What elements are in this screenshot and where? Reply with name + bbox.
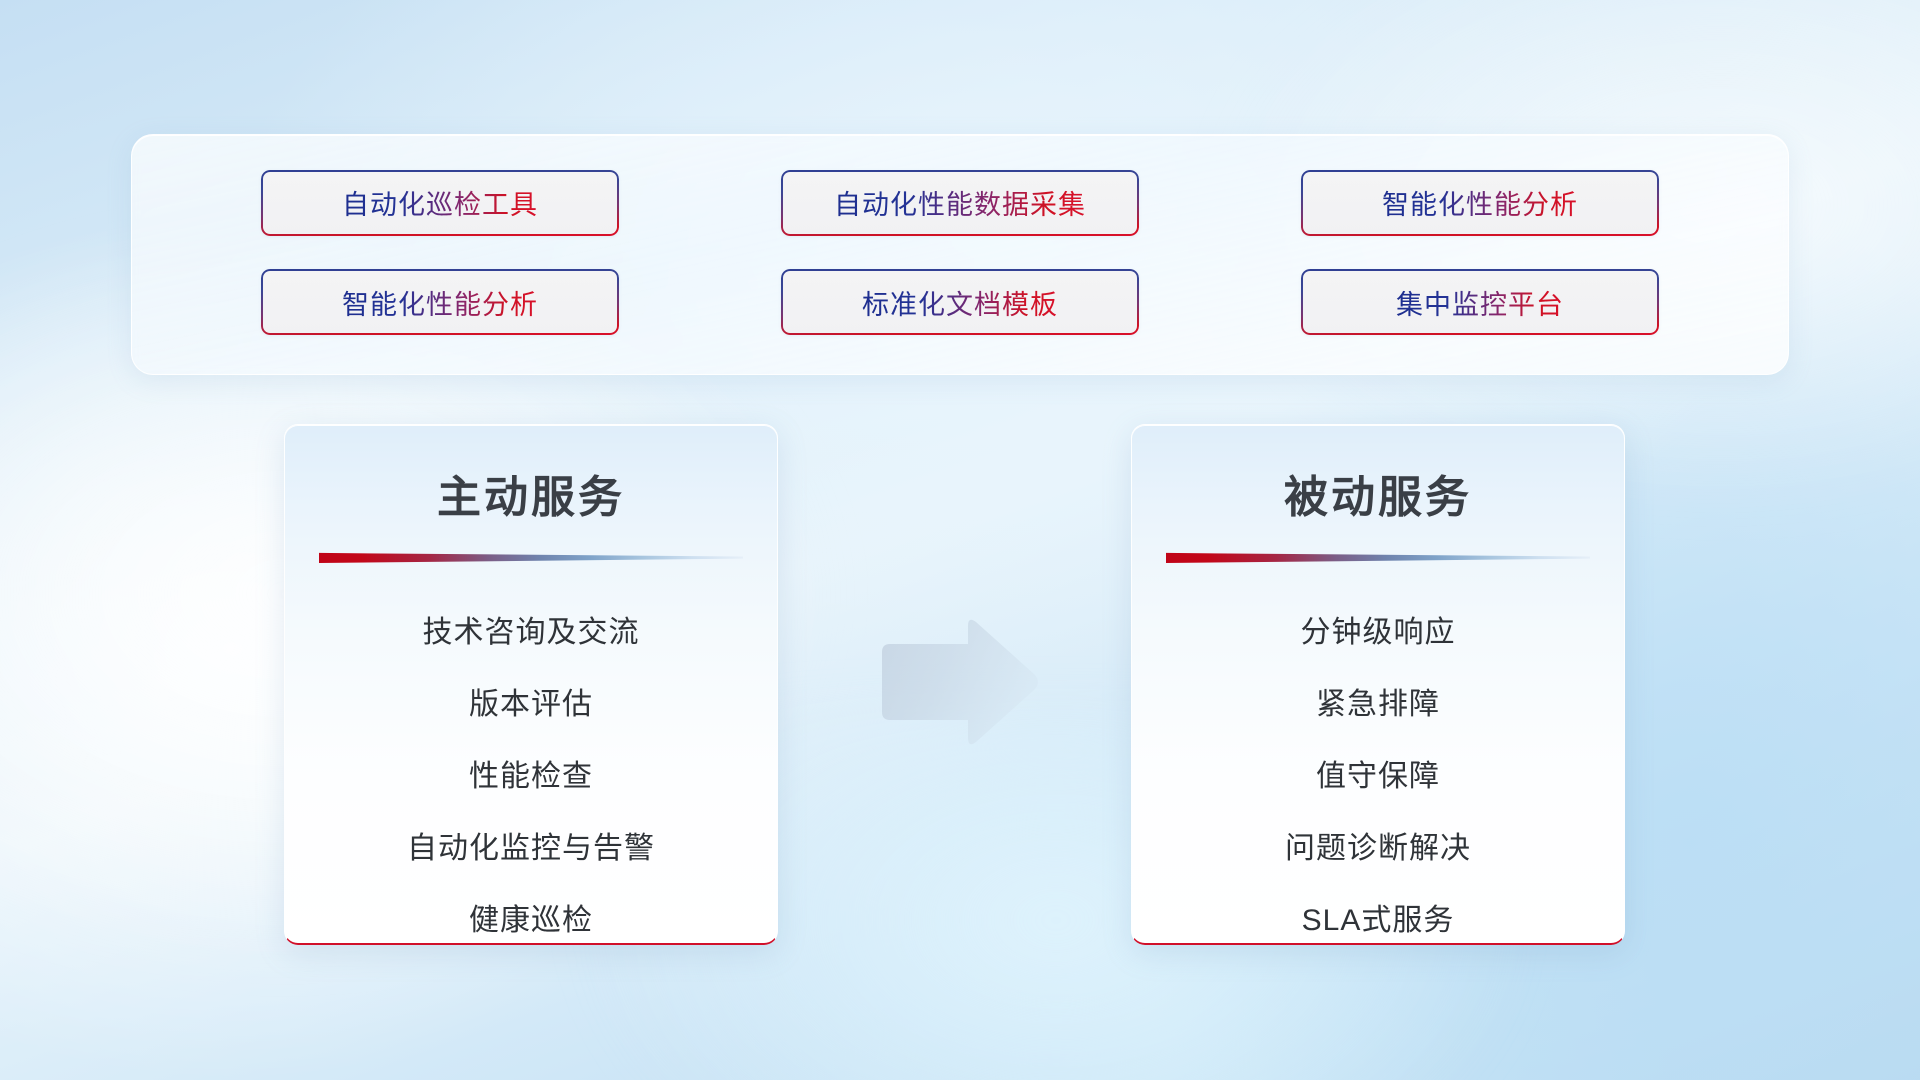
- card-title: 主动服务: [285, 461, 777, 525]
- capability-tag-intelligent-performance-analysis-2[interactable]: 智能化性能分析: [261, 269, 619, 335]
- list-item[interactable]: 紧急排障: [1132, 669, 1624, 741]
- service-card-proactive[interactable]: 主动服务 技术咨询及交流 版本评估 性能检查 自动化监控与告警 健康巡检: [284, 424, 778, 945]
- arrow-right-icon: [876, 614, 1042, 754]
- list-item[interactable]: 性能检查: [285, 741, 777, 813]
- card-title-divider: [1166, 551, 1590, 563]
- capability-tag-label: 集中监控平台: [1396, 283, 1564, 322]
- list-item[interactable]: 分钟级响应: [1132, 597, 1624, 669]
- capabilities-panel: 自动化巡检工具 自动化性能数据采集 智能化性能分析 智能化性能分析 标准化文档模…: [131, 134, 1789, 375]
- list-item[interactable]: 版本评估: [285, 669, 777, 741]
- capability-tag-standardized-document-template[interactable]: 标准化文档模板: [781, 269, 1139, 335]
- card-title: 被动服务: [1132, 461, 1624, 525]
- divider-gradient-wedge: [319, 551, 743, 563]
- list-item[interactable]: 健康巡检: [285, 885, 777, 945]
- capability-tag-label: 自动化巡检工具: [342, 183, 538, 222]
- capability-tag-automated-performance-data-collection[interactable]: 自动化性能数据采集: [781, 170, 1139, 236]
- capability-tag-intelligent-performance-analysis-1[interactable]: 智能化性能分析: [1301, 170, 1659, 236]
- capability-tag-label: 标准化文档模板: [862, 283, 1058, 322]
- flow-arrow: [876, 614, 1042, 754]
- capability-tag-label: 智能化性能分析: [1382, 183, 1578, 222]
- list-item[interactable]: 值守保障: [1132, 741, 1624, 813]
- list-item[interactable]: SLA式服务: [1132, 885, 1624, 945]
- service-card-reactive[interactable]: 被动服务 分钟级响应 紧急排障 值守保障 问题诊断解决 SLA式服务: [1131, 424, 1625, 945]
- list-item[interactable]: 技术咨询及交流: [285, 597, 777, 669]
- list-item[interactable]: 自动化监控与告警: [285, 813, 777, 885]
- list-item[interactable]: 问题诊断解决: [1132, 813, 1624, 885]
- capability-tag-centralized-monitoring-platform[interactable]: 集中监控平台: [1301, 269, 1659, 335]
- capability-tag-label: 智能化性能分析: [342, 283, 538, 322]
- divider-gradient-wedge: [1166, 551, 1590, 563]
- service-item-list: 技术咨询及交流 版本评估 性能检查 自动化监控与告警 健康巡检: [285, 597, 777, 945]
- capability-tag-grid: 自动化巡检工具 自动化性能数据采集 智能化性能分析 智能化性能分析 标准化文档模…: [132, 135, 1788, 374]
- capability-tag-label: 自动化性能数据采集: [834, 183, 1086, 222]
- service-item-list: 分钟级响应 紧急排障 值守保障 问题诊断解决 SLA式服务: [1132, 597, 1624, 945]
- card-title-divider: [319, 551, 743, 563]
- capability-tag-automated-inspection-tool[interactable]: 自动化巡检工具: [261, 170, 619, 236]
